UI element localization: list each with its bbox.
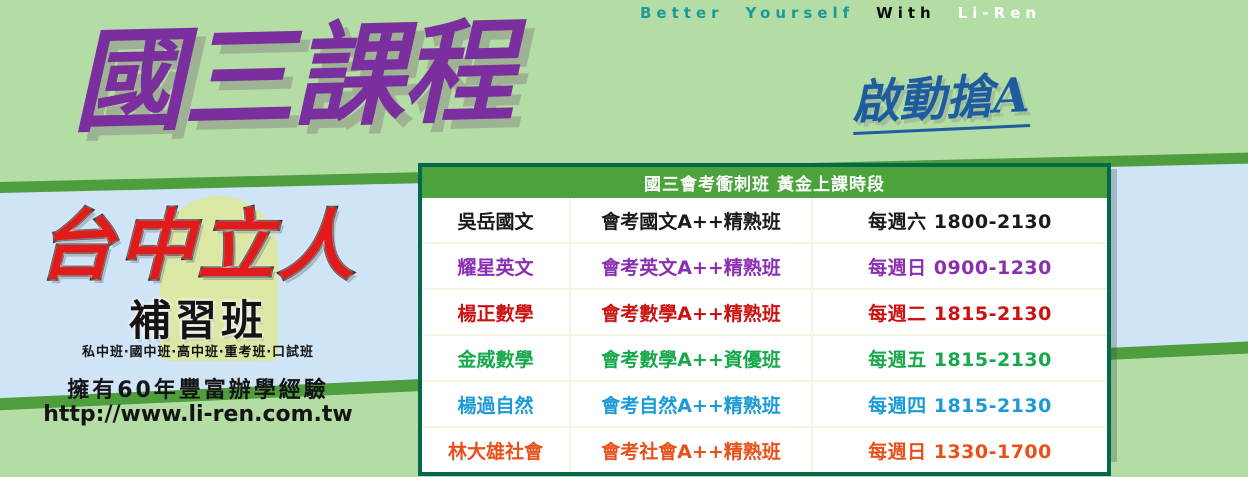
- table-row: 吳岳國文會考國文A++精熟班每週六 1800-2130: [420, 198, 1109, 243]
- logo-website-url: http://www.li-ren.com.tw: [18, 402, 378, 427]
- logo-name: 台中立人: [18, 208, 378, 284]
- tagline: Better Yourself With Li-Ren: [640, 1, 1248, 25]
- cell-time: 每週四 1815-2130: [812, 381, 1109, 427]
- cell-teacher: 金威數學: [420, 335, 570, 381]
- table-row: 金威數學會考數學A++資優班每週五 1815-2130: [420, 335, 1109, 381]
- promo-poster: Better Yourself With Li-Ren 國三課程 啟動搶A 台中…: [0, 0, 1248, 477]
- tagline-word-yourself: Yourself: [746, 4, 855, 22]
- schedule-header-row: 國三會考衝刺班 黃金上課時段: [420, 165, 1109, 198]
- cell-teacher: 耀星英文: [420, 243, 570, 289]
- logo-experience: 擁有60年豐富辦學經驗: [18, 378, 378, 403]
- headline-subtitle-wrap: 啟動搶A: [851, 70, 1031, 135]
- cell-course: 會考自然A++精熟班: [570, 381, 812, 427]
- table-row: 林大雄社會會考社會A++精熟班每週日 1330-1700: [420, 427, 1109, 474]
- table-row: 楊過自然會考自然A++精熟班每週四 1815-2130: [420, 381, 1109, 427]
- cell-course: 會考數學A++精熟班: [570, 289, 812, 335]
- cell-time: 每週六 1800-2130: [812, 198, 1109, 243]
- cell-time: 每週二 1815-2130: [812, 289, 1109, 335]
- cell-course: 會考社會A++精熟班: [570, 427, 812, 474]
- cell-teacher: 林大雄社會: [420, 427, 570, 474]
- cell-teacher: 楊正數學: [420, 289, 570, 335]
- logo-class-list: 私中班‧國中班‧高中班‧重考班‧口試班: [18, 346, 378, 359]
- table-row: 耀星英文會考英文A++精熟班每週日 0900-1230: [420, 243, 1109, 289]
- cell-time: 每週日 0900-1230: [812, 243, 1109, 289]
- page-title: 國三課程: [71, 13, 514, 145]
- schedule-header-title: 國三會考衝刺班 黃金上課時段: [420, 165, 1109, 198]
- tagline-word-liren: Li-Ren: [958, 4, 1041, 22]
- schedule-table: 國三會考衝刺班 黃金上課時段 吳岳國文會考國文A++精熟班每週六 1800-21…: [418, 163, 1111, 476]
- headline-title-wrap: 國三課程: [71, 13, 514, 145]
- schedule-body: 吳岳國文會考國文A++精熟班每週六 1800-2130耀星英文會考英文A++精熟…: [420, 198, 1109, 474]
- logo-subname: 補習班: [18, 300, 378, 342]
- page-subtitle: 啟動搶A: [851, 70, 1031, 135]
- cell-course: 會考數學A++資優班: [570, 335, 812, 381]
- cell-course: 會考國文A++精熟班: [570, 198, 812, 243]
- cell-teacher: 吳岳國文: [420, 198, 570, 243]
- cell-time: 每週五 1815-2130: [812, 335, 1109, 381]
- cell-teacher: 楊過自然: [420, 381, 570, 427]
- tagline-word-better: Better: [640, 4, 724, 22]
- cell-course: 會考英文A++精熟班: [570, 243, 812, 289]
- cell-time: 每週日 1330-1700: [812, 427, 1109, 474]
- table-row: 楊正數學會考數學A++精熟班每週二 1815-2130: [420, 289, 1109, 335]
- brand-logo: 台中立人 補習班 私中班‧國中班‧高中班‧重考班‧口試班 擁有60年豐富辦學經驗…: [18, 196, 378, 421]
- tagline-word-with: With: [876, 4, 936, 22]
